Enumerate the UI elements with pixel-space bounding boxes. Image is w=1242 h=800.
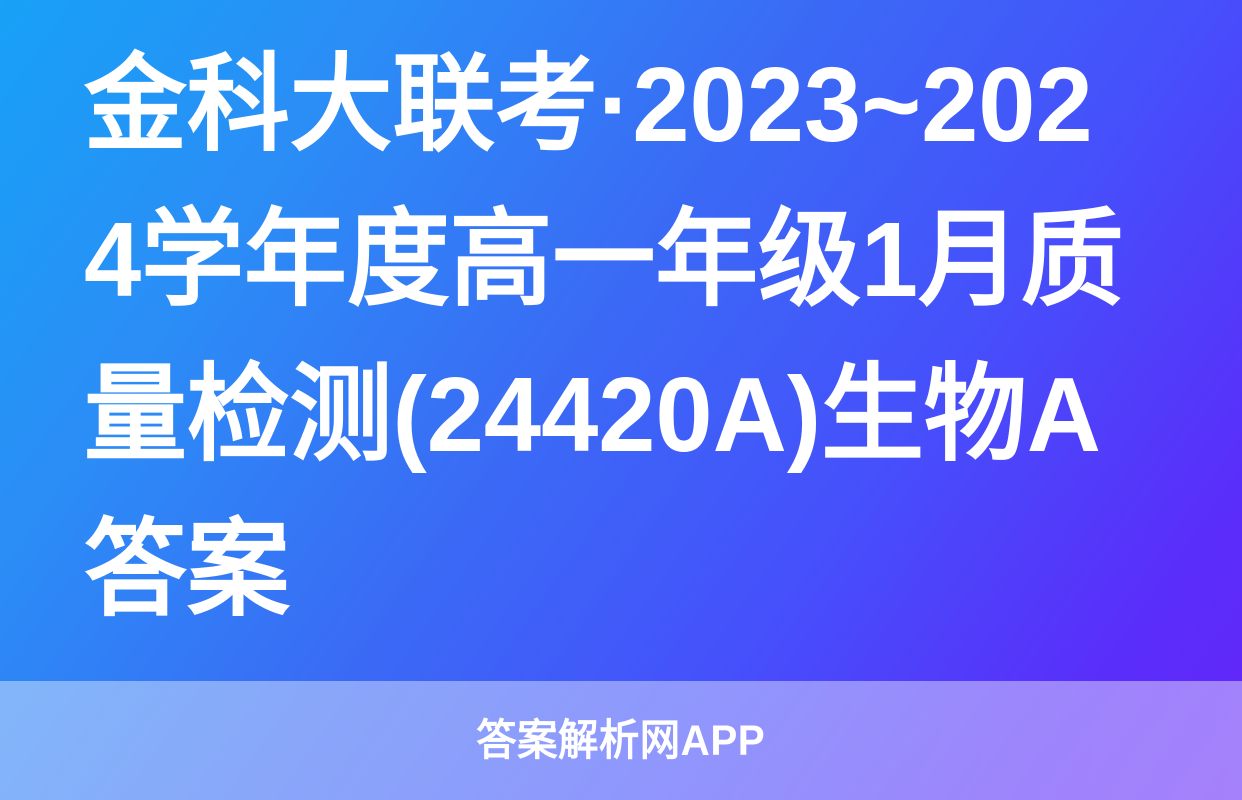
- page-title: 金科大联考·2023~2024学年度高一年级1月质量检测(24420A)生物A答…: [84, 28, 1127, 648]
- app-name-label: 答案解析网APP: [477, 716, 766, 766]
- app-promo-band: 答案解析网APP: [0, 681, 1242, 800]
- title-block: 金科大联考·2023~2024学年度高一年级1月质量检测(24420A)生物A答…: [0, 0, 1242, 681]
- exam-answer-poster: 金科大联考·2023~2024学年度高一年级1月质量检测(24420A)生物A答…: [0, 0, 1242, 800]
